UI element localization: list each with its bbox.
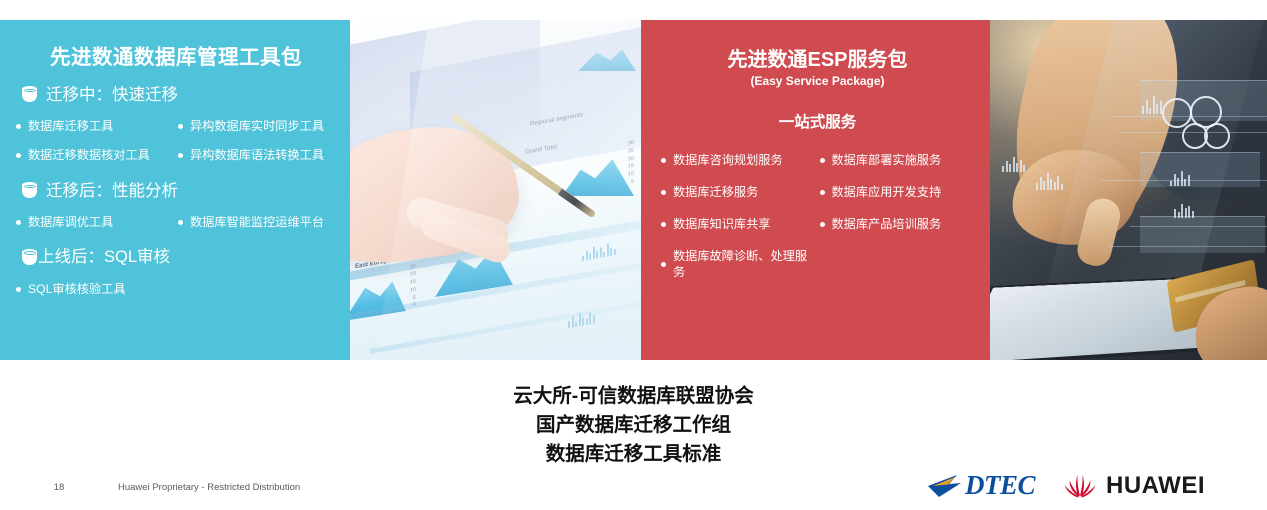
list-item: 数据库产品培训服务: [818, 209, 977, 241]
section-heading-label: 迁移中：快速迁移: [46, 85, 178, 106]
section-heading-after-launch: 上线后：SQL审核: [22, 247, 338, 268]
section-heading-label: 上线后：SQL审核: [38, 247, 170, 268]
list-item: 数据库智能监控运维平台: [176, 208, 338, 237]
photo-holo-ring: [1162, 98, 1192, 128]
list-item: SQL审核核验工具: [14, 275, 338, 304]
database-icon: [22, 249, 37, 267]
bullet-dot-icon: [661, 190, 666, 195]
headline-line-3: 数据库迁移工具标准: [0, 440, 1267, 469]
huawei-logo: HUAWEI: [1063, 472, 1205, 500]
huawei-flower-icon: [1063, 473, 1097, 499]
dtec-logo-text: DTEC: [965, 470, 1035, 501]
photo-holo-panel: [1140, 152, 1260, 187]
huawei-logo-text: HUAWEI: [1106, 472, 1205, 500]
list-item-label: 数据库咨询规划服务: [673, 153, 783, 168]
photo-holo-ring: [1204, 123, 1230, 149]
photo-holo-bar-chart: [1142, 94, 1162, 114]
section-heading-migrating: 迁移中：快速迁移: [22, 85, 338, 106]
list-item-label: 数据库迁移工具: [28, 119, 113, 134]
photo-holo-panel: [1140, 216, 1265, 253]
right-panel-tagline: 一站式服务: [659, 110, 976, 132]
footer: 18 Huawei Proprietary - Restricted Distr…: [0, 482, 300, 493]
list-item-label: 数据迁移数据核对工具: [28, 148, 150, 163]
bullet-dot-icon: [661, 158, 666, 163]
logo-group: DTEC HUAWEI: [927, 470, 1205, 501]
confidentiality-note: Huawei Proprietary - Restricted Distribu…: [118, 482, 300, 493]
section-heading-label: 迁移后：性能分析: [46, 181, 178, 202]
photo-holo-line: [1130, 226, 1267, 227]
bullet-list-services: 数据库咨询规划服务 数据库部署实施服务 数据库迁移服务 数据库应用开发支持 数据…: [659, 144, 976, 288]
right-panel-subtitle: (Easy Service Package): [659, 74, 976, 88]
right-photo-tablet: [990, 20, 1267, 360]
bullet-dot-icon: [178, 124, 183, 129]
list-item-label: 数据库知识库共享: [673, 217, 771, 232]
center-photo-charts: Regional segments Grand Total 3530252015…: [350, 20, 641, 360]
photo-holo-line: [1108, 246, 1267, 247]
bullet-dot-icon: [16, 287, 21, 292]
list-item: 数据库应用开发支持: [818, 176, 977, 208]
photo-holo-bar-chart: [1036, 170, 1063, 190]
list-item: 数据库部署实施服务: [818, 144, 977, 176]
list-item-label: 数据库部署实施服务: [832, 153, 942, 168]
list-item-label: 数据库智能监控运维平台: [190, 215, 324, 230]
list-item: 数据库迁移服务: [659, 176, 818, 208]
photo-holo-bar-chart: [1170, 168, 1190, 186]
bullet-list-migrating: 数据库迁移工具 异构数据库实时同步工具 数据迁移数据核对工具 异构数据库语法转换…: [14, 112, 338, 171]
list-item: 数据库故障诊断、处理服务: [659, 241, 818, 289]
list-item: 数据迁移数据核对工具: [14, 141, 176, 170]
photo-holo-line: [1110, 116, 1267, 117]
bullet-dot-icon: [16, 124, 21, 129]
headline-line-1: 云大所-可信数据库联盟协会: [0, 382, 1267, 411]
photo-holo-line: [1100, 180, 1267, 181]
bullet-dot-icon: [178, 153, 183, 158]
bullet-dot-icon: [820, 190, 825, 195]
list-item-label: 异构数据库实时同步工具: [190, 119, 324, 134]
slide-canvas: 先进数通数据库管理工具包 迁移中：快速迁移 数据库迁移工具 异构数据库实时同步工…: [0, 0, 1267, 510]
dtec-arrow-icon: [927, 473, 963, 499]
list-item: 数据库咨询规划服务: [659, 144, 818, 176]
photo-holo-bar-chart: [1002, 154, 1025, 172]
photo-holo-bar-chart: [1174, 200, 1194, 218]
left-panel-title: 先进数通数据库管理工具包: [14, 46, 338, 71]
bullet-dot-icon: [820, 158, 825, 163]
list-item: 异构数据库实时同步工具: [176, 112, 338, 141]
list-item: 数据库知识库共享: [659, 209, 818, 241]
right-panel-title: 先进数通ESP服务包: [659, 48, 976, 72]
list-item-label: 数据库应用开发支持: [832, 185, 942, 200]
dtec-logo: DTEC: [927, 470, 1035, 501]
bullet-dot-icon: [820, 222, 825, 227]
section-heading-after-migration: 迁移后：性能分析: [22, 181, 338, 202]
database-icon: [22, 182, 37, 200]
list-item-label: 数据库调优工具: [28, 215, 113, 230]
list-item-label: 数据库产品培训服务: [832, 217, 942, 232]
photo-holo-line: [1120, 132, 1267, 133]
page-title: 云大所-可信数据库联盟协会 国产数据库迁移工作组 数据库迁移工具标准: [0, 382, 1267, 469]
page-number: 18: [0, 482, 118, 493]
list-item: 异构数据库语法转换工具: [176, 141, 338, 170]
list-item-label: 异构数据库语法转换工具: [190, 148, 324, 163]
bullet-dot-icon: [178, 220, 183, 225]
banner-strip: 先进数通数据库管理工具包 迁移中：快速迁移 数据库迁移工具 异构数据库实时同步工…: [0, 20, 1267, 360]
bullet-list-after-launch: SQL审核核验工具: [14, 275, 338, 304]
left-teal-panel: 先进数通数据库管理工具包 迁移中：快速迁移 数据库迁移工具 异构数据库实时同步工…: [0, 20, 350, 360]
bullet-dot-icon: [661, 262, 666, 267]
list-item-label: SQL审核核验工具: [28, 282, 126, 297]
list-item-label: 数据库故障诊断、处理服务: [673, 249, 816, 280]
right-red-panel: 先进数通ESP服务包 (Easy Service Package) 一站式服务 …: [641, 20, 990, 360]
photo-axis-ticks: 30252015105: [628, 139, 634, 187]
list-item-label: 数据库迁移服务: [673, 185, 758, 200]
bullet-dot-icon: [16, 153, 21, 158]
list-item: 数据库迁移工具: [14, 112, 176, 141]
headline-line-2: 国产数据库迁移工作组: [0, 411, 1267, 440]
bullet-list-after-migration: 数据库调优工具 数据库智能监控运维平台: [14, 208, 338, 237]
bullet-dot-icon: [16, 220, 21, 225]
list-item: 数据库调优工具: [14, 208, 176, 237]
database-icon: [22, 86, 37, 104]
bullet-dot-icon: [661, 222, 666, 227]
